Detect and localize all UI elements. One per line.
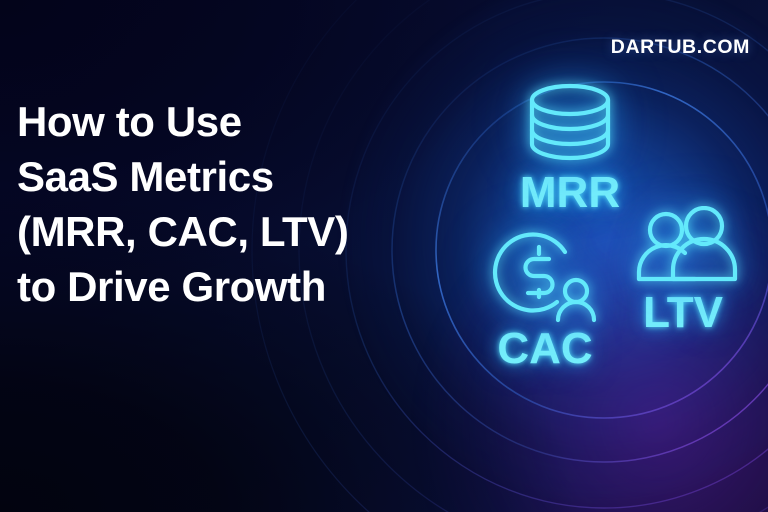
- headline-line-2: SaaS Metrics: [17, 149, 437, 204]
- page-title: How to Use SaaS Metrics (MRR, CAC, LTV) …: [17, 94, 437, 314]
- two-people-icon: [625, 206, 741, 288]
- site-logo: DARTUB.COM: [611, 36, 750, 59]
- metric-mrr: MRR: [480, 82, 660, 216]
- metric-ltv: LTV: [608, 206, 758, 336]
- headline-line-3: (MRR, CAC, LTV): [17, 204, 437, 259]
- title-card-canvas: DARTUB.COM How to Use SaaS Metrics (MRR,…: [0, 0, 768, 512]
- metric-ltv-label: LTV: [608, 290, 758, 336]
- headline-line-1: How to Use: [17, 94, 437, 149]
- dollar-circle-person-icon: [487, 228, 603, 324]
- database-icon: [518, 82, 622, 164]
- headline-line-4: to Drive Growth: [17, 259, 437, 314]
